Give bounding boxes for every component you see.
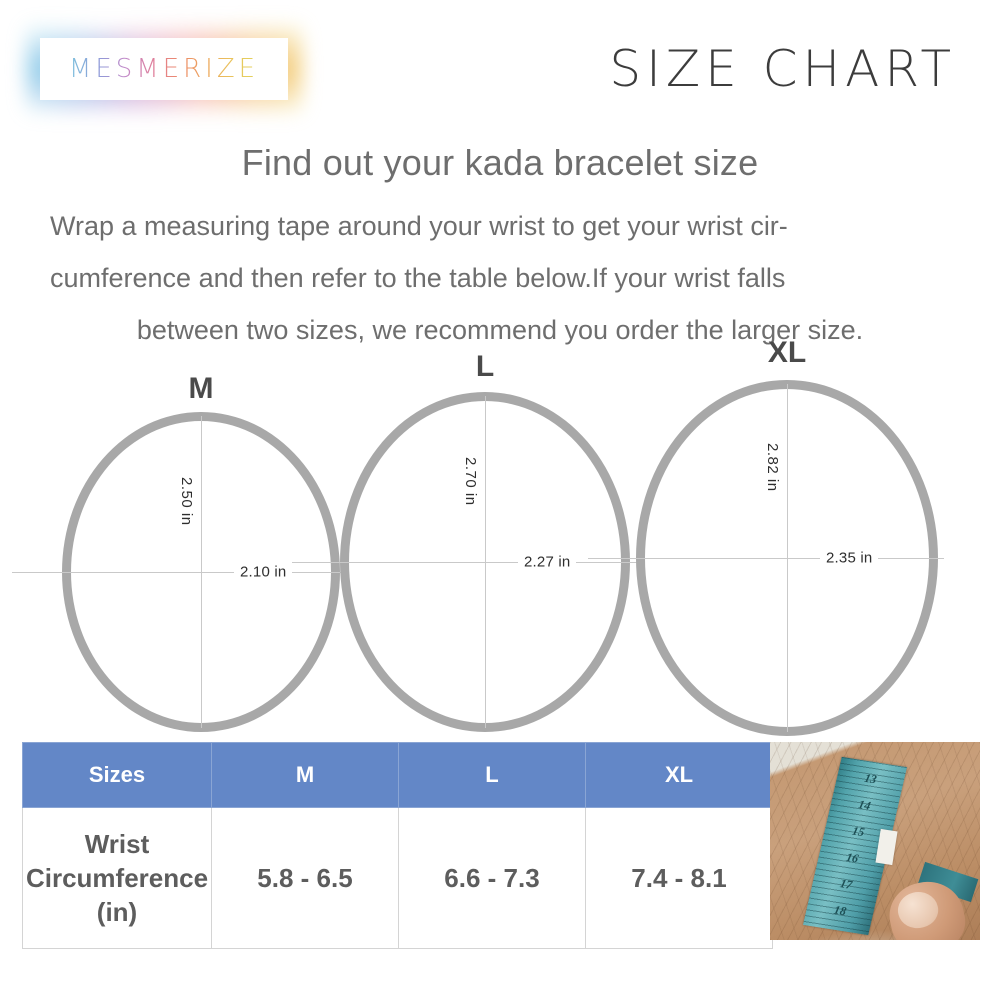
height-label-xl: 2.82 in: [764, 440, 781, 495]
height-label-l: 2.70 in: [462, 454, 479, 509]
headline: Find out your kada bracelet size: [0, 142, 1000, 184]
width-label-xl: 2.35 in: [820, 550, 878, 567]
height-label-m: 2.50 in: [178, 474, 195, 529]
size-chart-page: MESMERIZE SIZE CHART Find out your kada …: [0, 0, 1000, 1000]
size-letter-m: M: [189, 372, 214, 406]
width-label-l: 2.27 in: [518, 554, 576, 571]
cell-value-l: 6.6 - 7.3: [399, 808, 586, 949]
horizontal-guide-xl: [588, 558, 944, 559]
size-table: Sizes M L XL Wrist Circumference (in) 5.…: [22, 742, 773, 949]
intro-line-3: between two sizes, we recommend you orde…: [50, 304, 950, 356]
cell-value-m: 5.8 - 6.5: [212, 808, 399, 949]
logo-box: MESMERIZE: [40, 38, 288, 100]
size-letter-l: L: [476, 350, 494, 384]
row-label-line-3: (in): [97, 897, 137, 927]
ring-group-xl: XL 2.82 in 2.35 in: [636, 380, 938, 736]
page-title: SIZE CHART: [609, 40, 956, 98]
table-row: Wrist Circumference (in) 5.8 - 6.5 6.6 -…: [23, 808, 773, 949]
ring-group-l: L 2.70 in 2.27 in: [340, 392, 630, 732]
intro-line-2: cumference and then refer to the table b…: [50, 252, 950, 304]
intro-paragraph: Wrap a measuring tape around your wrist …: [50, 200, 950, 356]
size-letter-xl: XL: [768, 336, 806, 370]
row-label-line-2: Circumference: [26, 863, 208, 893]
horizontal-guide-l: [292, 562, 642, 563]
bracelet-diagrams: M 2.50 in 2.10 in L 2.70 in 2.27 in XL 2…: [0, 350, 1000, 740]
logo-text: MESMERIZE: [69, 54, 259, 84]
header-cell-l: L: [399, 743, 586, 808]
cell-value-xl: 7.4 - 8.1: [586, 808, 773, 949]
table-body: Wrist Circumference (in) 5.8 - 6.5 6.6 -…: [23, 808, 773, 949]
header-cell-xl: XL: [586, 743, 773, 808]
intro-line-1: Wrap a measuring tape around your wrist …: [50, 200, 950, 252]
horizontal-guide-m: [12, 572, 342, 573]
row-label-wrist-circumference: Wrist Circumference (in): [23, 808, 212, 949]
ring-group-m: M 2.50 in 2.10 in: [62, 412, 340, 732]
table-header: Sizes M L XL: [23, 743, 773, 808]
brand-logo: MESMERIZE: [40, 38, 288, 100]
row-label-line-1: Wrist: [85, 829, 150, 859]
header-cell-m: M: [212, 743, 399, 808]
header-cell-sizes: Sizes: [23, 743, 212, 808]
wrist-measurement-photo: 13 14 15 16 17 18: [770, 742, 980, 940]
table-header-row: Sizes M L XL: [23, 743, 773, 808]
width-label-m: 2.10 in: [234, 564, 292, 581]
